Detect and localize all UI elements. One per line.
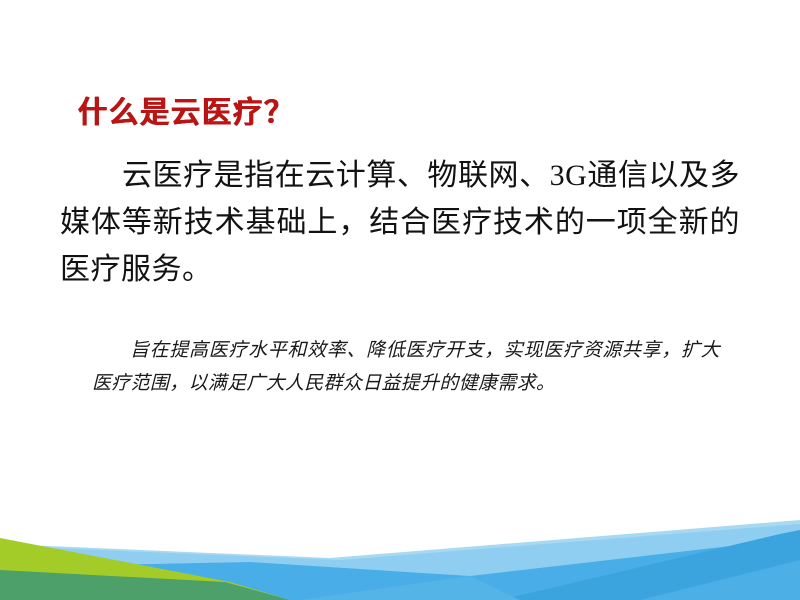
decoration-shape-green: [0, 538, 290, 600]
decoration-shape-mid-blue: [640, 560, 800, 600]
decoration-shape-green-blue-overlap: [0, 570, 290, 600]
decoration-shape-light-blue: [0, 524, 800, 600]
decoration-shape-medium-blue: [0, 538, 800, 600]
presentation-slide: 什么是云医疗？ 云医疗是指在云计算、物联网、3G通信以及多媒体等新技术基础上，结…: [0, 0, 800, 600]
decoration-shape-pale-blue: [0, 520, 800, 600]
footer-decoration: [0, 520, 800, 600]
note-paragraph: 旨在提高医疗水平和效率、降低医疗开支，实现医疗资源共享，扩大医疗范围，以满足广大…: [92, 334, 720, 400]
body-paragraph: 云医疗是指在云计算、物联网、3G通信以及多媒体等新技术基础上，结合医疗技术的一项…: [60, 152, 740, 293]
decoration-shape-center-facet: [300, 576, 520, 600]
decoration-shape-deep-blue: [500, 530, 800, 600]
page-title: 什么是云医疗？: [78, 88, 295, 132]
